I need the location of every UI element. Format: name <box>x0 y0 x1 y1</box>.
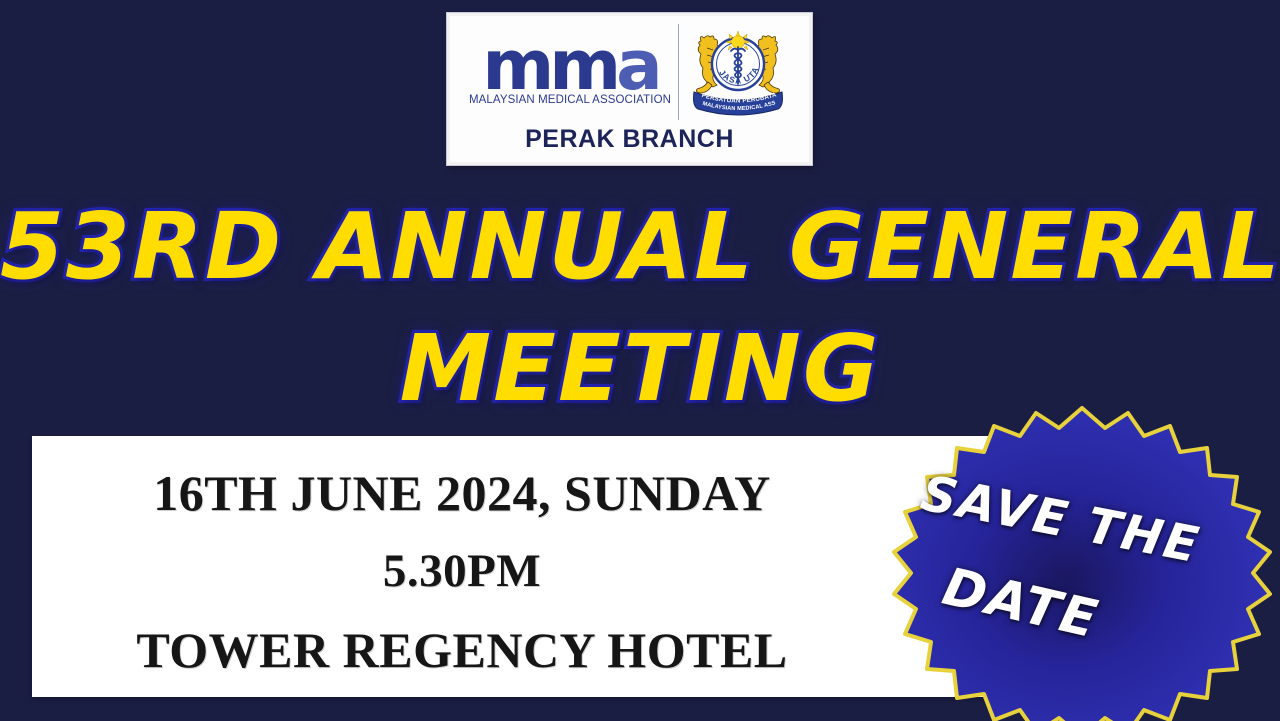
event-details-panel: 16TH JUNE 2024, SUNDAY 5.30PM TOWER REGE… <box>32 436 995 697</box>
page-title: 53RD ANNUAL GENERAL MEETING <box>0 186 1280 431</box>
mma-wordmark: mma <box>482 40 657 94</box>
event-time: 5.30PM <box>32 548 892 595</box>
headline-line-1: 53RD ANNUAL GENERAL <box>0 186 1280 308</box>
badge-starburst-shape <box>894 408 1270 721</box>
mma-crest-icon: JASA UTAMA PERSATUAN PERUBATAN MALAYSIA … <box>686 22 790 122</box>
mma-subtitle: MALAYSIAN MEDICAL ASSOCIATION <box>469 94 671 106</box>
mma-logo-box: mma MALAYSIAN MEDICAL ASSOCIATION <box>447 13 812 165</box>
logo-top-row: mma MALAYSIAN MEDICAL ASSOCIATION <box>450 20 809 124</box>
perak-branch-label: PERAK BRANCH <box>525 125 734 154</box>
mma-wordmark-block: mma MALAYSIAN MEDICAL ASSOCIATION <box>469 24 679 120</box>
event-date: 16TH JUNE 2024, SUNDAY <box>32 468 892 518</box>
poster-canvas: mma MALAYSIAN MEDICAL ASSOCIATION <box>0 0 1280 721</box>
event-details-inner: 16TH JUNE 2024, SUNDAY 5.30PM TOWER REGE… <box>32 468 892 675</box>
save-the-date-badge: SAVE THE DATE <box>896 406 1268 716</box>
event-venue: TOWER REGENCY HOTEL <box>32 625 892 675</box>
